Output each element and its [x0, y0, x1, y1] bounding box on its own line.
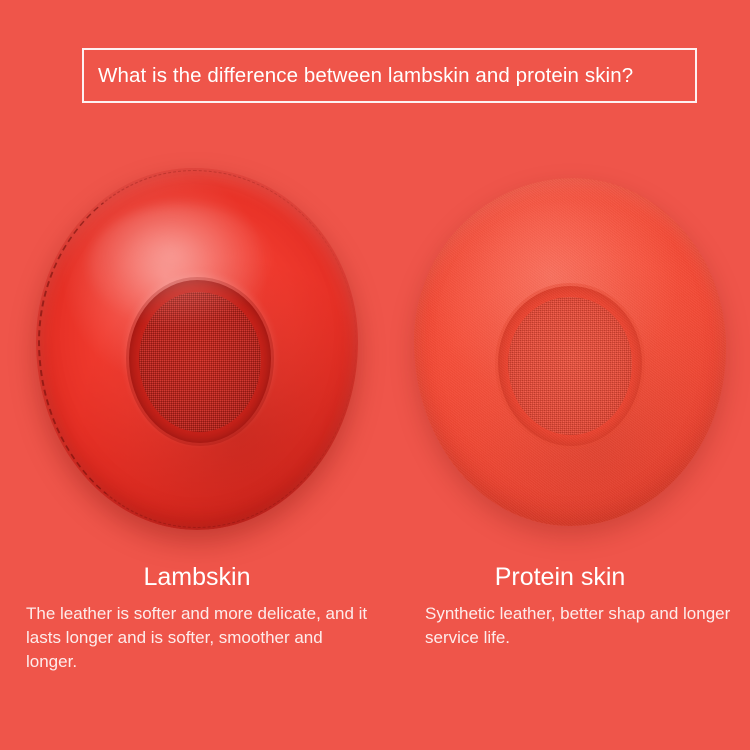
protein-skin-heading: Protein skin	[423, 563, 733, 592]
lambskin-earpad-mesh	[139, 292, 261, 432]
lambskin-earpad-photo	[36, 168, 358, 530]
lambskin-heading: Lambskin	[24, 563, 374, 592]
product-photo-stage	[0, 140, 750, 550]
lambskin-caption-column: Lambskin The leather is softer and more …	[24, 563, 374, 674]
protein-skin-earpad-mesh	[508, 297, 631, 435]
protein-skin-earpad-inner-ring	[498, 286, 642, 446]
title-banner: What is the difference between lambskin …	[82, 48, 697, 103]
protein-skin-description: Synthetic leather, better shap and longe…	[423, 602, 733, 650]
lambskin-earpad-inner-ring	[129, 280, 271, 443]
protein-skin-caption-column: Protein skin Synthetic leather, better s…	[423, 563, 733, 650]
protein-skin-earpad-photo	[414, 178, 726, 526]
page-title: What is the difference between lambskin …	[98, 64, 633, 88]
infographic-page: What is the difference between lambskin …	[0, 0, 750, 750]
lambskin-description: The leather is softer and more delicate,…	[24, 602, 374, 674]
